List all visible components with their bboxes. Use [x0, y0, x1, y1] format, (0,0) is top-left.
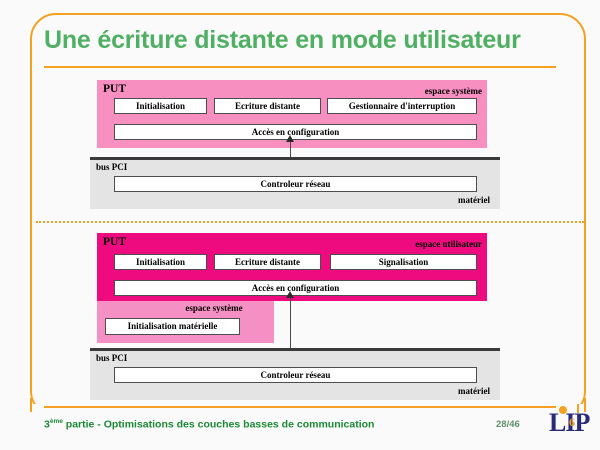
page-number: 28/46 [496, 419, 520, 430]
logo-badge-six: 6 [569, 416, 575, 428]
slide: Une écriture distante en mode utilisateu… [0, 0, 600, 450]
module-signalisation[interactable]: Signalisation [330, 254, 477, 270]
bottom-espace-systeme-label: espace système [160, 303, 268, 313]
top-connector-arrow-up [286, 135, 294, 142]
module-acces-en-configuration-top[interactable]: Accès en configuration [114, 124, 477, 140]
page-title: Une écriture distante en mode utilisateu… [44, 26, 564, 55]
module-gestionnaire-interruption[interactable]: Gestionnaire d'interruption [327, 98, 477, 114]
top-bus-pci-label: bus PCI [96, 162, 127, 172]
module-ecriture-distante-top[interactable]: Ecriture distante [214, 98, 321, 114]
footer-part-ordinal: ème [50, 418, 63, 425]
bottom-band-left-label: PUT [103, 236, 126, 248]
module-controleur-reseau-top[interactable]: Controleur réseau [114, 176, 477, 192]
top-materiel-label: matériel [410, 195, 490, 205]
module-initialisation-top[interactable]: Initialisation [114, 98, 207, 114]
footer-part-title: partie - Optimisations des couches basse… [63, 419, 375, 431]
module-controleur-reseau-bottom[interactable]: Controleur réseau [114, 367, 477, 383]
bottom-band-right-label: espace utilisateur [392, 239, 482, 249]
footer-caption: 3ème partie - Optimisations des couches … [44, 418, 374, 431]
section-divider [36, 221, 584, 223]
title-underline [44, 66, 556, 68]
top-band-left-label: PUT [103, 83, 126, 95]
frame-tick-left [30, 398, 32, 412]
module-ecriture-distante-bottom[interactable]: Ecriture distante [214, 254, 321, 270]
module-initialisation-materielle[interactable]: Initialisation matérielle [105, 318, 240, 335]
top-band-right-label: espace système [400, 86, 482, 96]
footer-divider [44, 406, 556, 408]
bottom-bus-pci-label: bus PCI [96, 353, 127, 363]
lip6-logo: LIP 6 [549, 406, 585, 440]
bottom-materiel-label: matériel [410, 386, 490, 396]
module-initialisation-bottom[interactable]: Initialisation [114, 254, 207, 270]
module-acces-en-configuration-bottom[interactable]: Accès en configuration [114, 280, 477, 296]
bottom-connector-arrow-up [286, 291, 294, 298]
